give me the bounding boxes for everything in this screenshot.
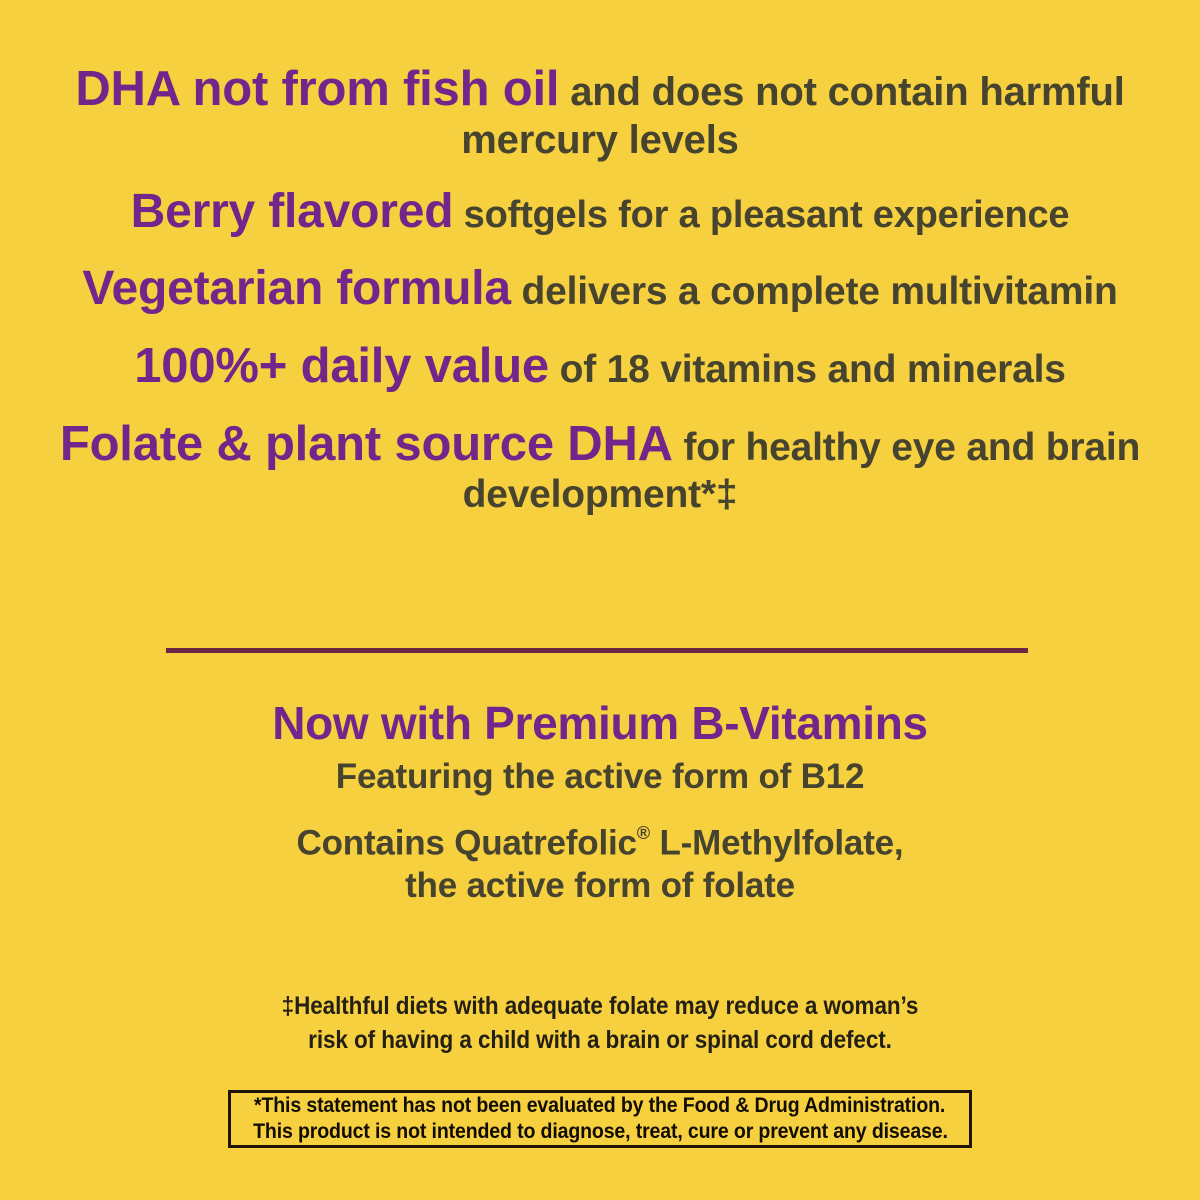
benefits-list: DHA not from fish oil and does not conta…	[0, 62, 1200, 539]
quatrefolic-prefix: Contains Quatrefolic	[297, 823, 637, 862]
folate-footnote-line-2: risk of having a child with a brain or s…	[60, 1024, 1140, 1058]
section-divider	[166, 648, 1028, 653]
folate-footnote: ‡Healthful diets with adequate folate ma…	[60, 990, 1140, 1057]
quatrefolic-statement: Contains Quatrefolic® L-Methylfolate, th…	[0, 822, 1200, 908]
benefit-highlight-berry-flavored: Berry flavored	[131, 185, 454, 238]
fda-disclaimer-line-1: *This statement has not been evaluated b…	[254, 1093, 945, 1119]
benefit-item-daily-value: 100%+ daily value of 18 vitamins and min…	[0, 339, 1200, 395]
fda-disclaimer-box: *This statement has not been evaluated b…	[228, 1090, 972, 1148]
benefit-highlight-dha: DHA not from fish oil	[75, 62, 559, 116]
benefit-item-berry-flavored: Berry flavored softgels for a pleasant e…	[0, 185, 1200, 240]
registered-trademark-icon: ®	[637, 823, 650, 843]
benefit-highlight-daily-value: 100%+ daily value	[134, 339, 549, 393]
benefit-item-folate-dha: Folate & plant source DHA for healthy ey…	[0, 417, 1200, 517]
benefit-item-vegetarian-formula: Vegetarian formula delivers a complete m…	[0, 262, 1200, 317]
benefit-rest-dha: and does not contain harmful mercury lev…	[461, 70, 1124, 162]
folate-footnote-line-1: ‡Healthful diets with adequate folate ma…	[60, 990, 1140, 1024]
premium-b-vitamins-section: Now with Premium B-Vitamins Featuring th…	[0, 698, 1200, 908]
benefit-highlight-vegetarian-formula: Vegetarian formula	[82, 262, 511, 315]
quatrefolic-suffix: L-Methylfolate,	[650, 823, 903, 862]
benefit-item-dha: DHA not from fish oil and does not conta…	[0, 62, 1200, 163]
b-vitamins-subheading: Featuring the active form of B12	[0, 757, 1200, 796]
fda-disclaimer-line-2: This product is not intended to diagnose…	[253, 1119, 948, 1145]
product-benefits-panel: DHA not from fish oil and does not conta…	[0, 0, 1200, 1200]
benefit-rest-berry-flavored: softgels for a pleasant experience	[453, 194, 1069, 236]
b-vitamins-heading: Now with Premium B-Vitamins	[0, 698, 1200, 749]
benefit-highlight-folate-dha: Folate & plant source DHA	[60, 417, 673, 471]
benefit-rest-daily-value: of 18 vitamins and minerals	[549, 348, 1066, 391]
benefit-rest-vegetarian-formula: delivers a complete multivitamin	[511, 270, 1118, 313]
quatrefolic-line-2: the active form of folate	[405, 866, 795, 905]
